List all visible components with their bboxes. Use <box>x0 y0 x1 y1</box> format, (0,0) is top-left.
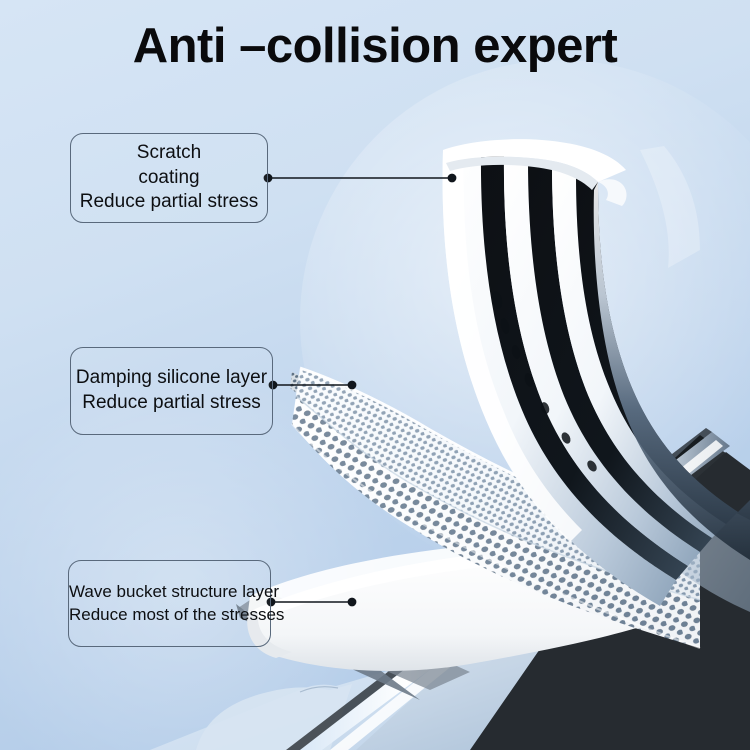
callout-2-line-2: Reduce partial stress <box>76 391 267 416</box>
callout-3-line-2: Reduce most of the stresses <box>69 604 270 626</box>
callout-3-line-1: Wave bucket structure layer <box>69 581 270 603</box>
product-poster: Anti –collision expert Scratch coating R… <box>0 0 750 750</box>
callout-1-line-3: Reduce partial stress <box>77 190 261 215</box>
callout-1-line-2: coating <box>77 166 261 191</box>
page-title: Anti –collision expert <box>0 18 750 74</box>
callout-1-line-1: Scratch <box>77 141 261 166</box>
callout-scratch-coating: Scratch coating Reduce partial stress <box>70 133 268 223</box>
callout-damping-silicone-layer: Damping silicone layer Reduce partial st… <box>70 347 273 435</box>
callout-wave-bucket-structure-layer: Wave bucket structure layer Reduce most … <box>68 560 271 647</box>
callout-2-line-1: Damping silicone layer <box>76 366 267 391</box>
